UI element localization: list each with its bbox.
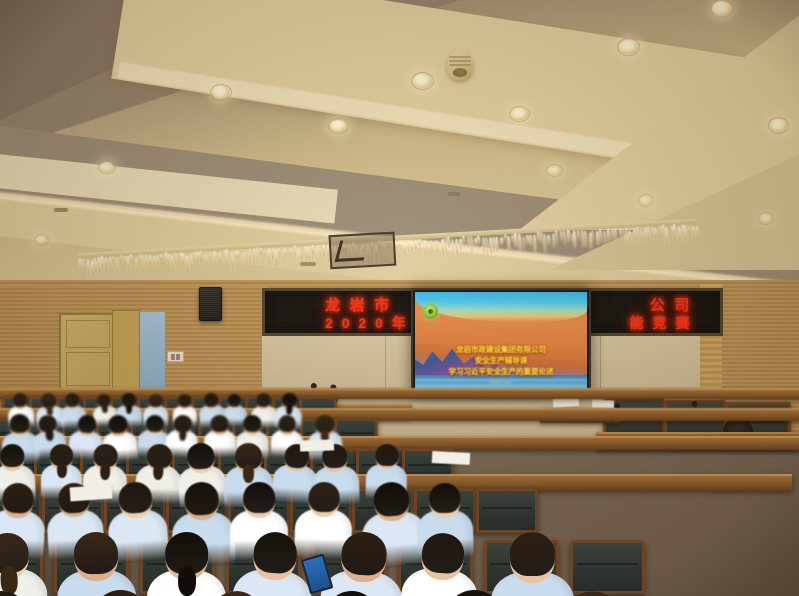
audience-person bbox=[397, 530, 482, 596]
notepaper-on-desk bbox=[432, 451, 471, 465]
downlight-icon bbox=[760, 214, 772, 223]
auditorium-chair bbox=[570, 540, 645, 594]
person-hair bbox=[373, 481, 410, 517]
person-hair bbox=[184, 481, 220, 516]
person-hair bbox=[510, 532, 555, 576]
smoke-detector-icon bbox=[447, 50, 473, 80]
light-switch-plate bbox=[167, 351, 184, 362]
safety-logo-icon bbox=[423, 304, 438, 319]
person-hair bbox=[2, 482, 35, 514]
person-hair bbox=[325, 591, 378, 596]
person-hair bbox=[429, 483, 461, 514]
person-hair bbox=[145, 415, 164, 433]
audience-person bbox=[420, 589, 532, 596]
downlight-icon bbox=[413, 74, 432, 88]
side-door bbox=[59, 313, 117, 393]
slide-title-line-3: 学习习近平安全生产的重要论述 bbox=[415, 366, 587, 377]
downlight-icon bbox=[548, 166, 561, 175]
person-hair bbox=[204, 393, 219, 408]
person-hair bbox=[186, 442, 215, 470]
person-hair bbox=[77, 414, 96, 433]
downlight-icon bbox=[770, 119, 787, 132]
downlight-icon bbox=[619, 40, 638, 54]
person-hair bbox=[108, 414, 128, 434]
downlight-icon bbox=[36, 236, 47, 244]
conference-hall-photo: 龙 岩 市公 司 2 0 2 0 年能 竞 赛 龙岩市政建设集团有限公司 安全生… bbox=[0, 0, 799, 596]
person-hair bbox=[278, 415, 296, 433]
audience-person bbox=[147, 532, 227, 596]
downlight-icon bbox=[330, 120, 347, 132]
chandelier-frame bbox=[329, 232, 397, 270]
person-hair bbox=[73, 531, 118, 574]
person-hair bbox=[13, 393, 28, 408]
person-hair bbox=[243, 482, 275, 513]
person-hair bbox=[375, 444, 399, 467]
downlight-icon bbox=[212, 86, 230, 99]
person-hair bbox=[149, 394, 163, 407]
audience-person bbox=[55, 531, 137, 596]
person-hair bbox=[178, 394, 191, 407]
person-hair bbox=[243, 415, 261, 432]
notepaper-on-desk bbox=[300, 439, 334, 451]
person-hair bbox=[92, 589, 148, 596]
slide-title-line-2: 安全生产辅导课 bbox=[415, 355, 587, 366]
person-ponytail bbox=[102, 404, 108, 413]
auditorium-chair bbox=[476, 488, 538, 533]
person-hair bbox=[252, 531, 298, 575]
person-ponytail bbox=[45, 429, 54, 442]
notepaper-on-desk bbox=[70, 485, 113, 502]
slide-footer: 主讲人 XXX bbox=[415, 380, 587, 386]
wall-seam bbox=[385, 330, 386, 388]
person-hair bbox=[228, 394, 241, 407]
downlight-icon bbox=[511, 108, 528, 120]
slide-sky bbox=[415, 292, 587, 322]
downlight-icon bbox=[640, 196, 652, 205]
person-ponytail bbox=[243, 464, 254, 483]
person-hair bbox=[256, 393, 271, 408]
audience-person bbox=[67, 589, 170, 596]
person-hair bbox=[210, 415, 228, 432]
audience-person bbox=[491, 532, 574, 596]
open-doorway bbox=[136, 312, 165, 400]
person-ponytail bbox=[126, 404, 132, 414]
wall-seam bbox=[600, 330, 601, 388]
person-hair bbox=[340, 531, 388, 577]
person-hair bbox=[308, 482, 340, 513]
sprinkler-icon bbox=[54, 208, 68, 212]
projected-slide: 龙岩市政建设集团有限公司 安全生产辅导课 学习习近平安全生产的重要论述 主讲人 … bbox=[415, 292, 587, 392]
audience-person bbox=[0, 532, 49, 596]
projection-screen: 龙岩市政建设集团有限公司 安全生产辅导课 学习习近平安全生产的重要论述 主讲人 … bbox=[411, 288, 591, 396]
person-hair bbox=[0, 444, 25, 468]
downlight-icon bbox=[100, 162, 114, 172]
person-hair bbox=[65, 393, 80, 408]
slide-title-line-1: 龙岩市政建设集团有限公司 bbox=[415, 344, 587, 355]
person-ponytail bbox=[100, 463, 111, 480]
person-hair bbox=[420, 531, 465, 574]
person-ponytail bbox=[57, 462, 67, 478]
person-hair bbox=[444, 589, 504, 596]
person-hair bbox=[0, 590, 29, 596]
person-hair bbox=[118, 481, 153, 514]
person-hair bbox=[9, 414, 29, 433]
sprinkler-icon bbox=[448, 192, 460, 196]
downlight-icon bbox=[712, 1, 732, 16]
